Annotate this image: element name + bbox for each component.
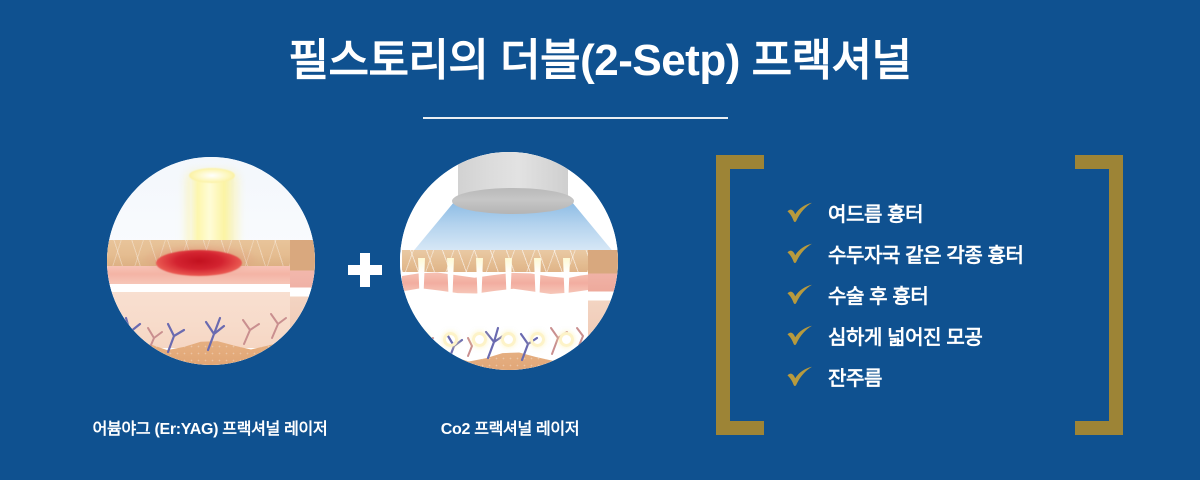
- title-underline-rule: [423, 117, 728, 119]
- pore-ring: [559, 332, 574, 347]
- check-icon: [786, 284, 814, 306]
- pore-ring: [443, 332, 458, 347]
- layer-divider-band: [107, 284, 290, 292]
- check-icon: [786, 366, 814, 388]
- block-side-face: [290, 240, 315, 365]
- block-side-face: [588, 250, 618, 370]
- check-icon: [786, 243, 814, 265]
- list-item-label: 수술 후 흉터: [828, 280, 928, 309]
- list-item-label: 심하게 넓어진 모공: [828, 321, 982, 350]
- check-icon: [786, 202, 814, 224]
- pore-ring: [472, 332, 487, 347]
- list-item: 수두자국 같은 각종 흉터: [786, 233, 1076, 274]
- pore-ring: [501, 332, 516, 347]
- caption-eryag: 어븀야그 (Er:YAG) 프랙셔널 레이저: [0, 415, 420, 439]
- list-item: 잔주름: [786, 356, 1076, 397]
- list-item: 심하게 넓어진 모공: [786, 315, 1076, 356]
- check-icon: [786, 325, 814, 347]
- page-title: 필스토리의 더블(2-Setp) 프랙셔널: [0, 36, 1200, 87]
- caption-co2: Co2 프랙셔널 레이저: [385, 415, 635, 439]
- list-item: 여드름 흉터: [786, 192, 1076, 233]
- skin-cross-section-block: [107, 240, 315, 365]
- plus-icon: [348, 253, 382, 287]
- list-item-label: 수두자국 같은 각종 흉터: [828, 239, 1023, 268]
- skin-cross-section-block: [402, 250, 618, 370]
- pore-ring: [530, 332, 545, 347]
- epidermis-top-surface: [402, 250, 588, 272]
- ablation-crater: [156, 250, 242, 276]
- benefits-list: 여드름 흉터 수두자국 같은 각종 흉터 수술 후 흉터: [786, 192, 1076, 397]
- skin-surface-texture: [402, 250, 588, 272]
- handpiece-aperture: [452, 188, 574, 214]
- list-item-label: 여드름 흉터: [828, 198, 923, 227]
- bracket-right-icon: [1075, 155, 1123, 435]
- treatment-illustration-co2: [400, 152, 618, 370]
- treatment-illustration-eryag: [107, 157, 315, 365]
- promo-banner: 필스토리의 더블(2-Setp) 프랙셔널: [0, 0, 1200, 480]
- list-item: 수술 후 흉터: [786, 274, 1076, 315]
- list-item-label: 잔주름: [828, 362, 882, 391]
- pore-ring: [414, 332, 429, 347]
- bracket-left-icon: [716, 155, 764, 435]
